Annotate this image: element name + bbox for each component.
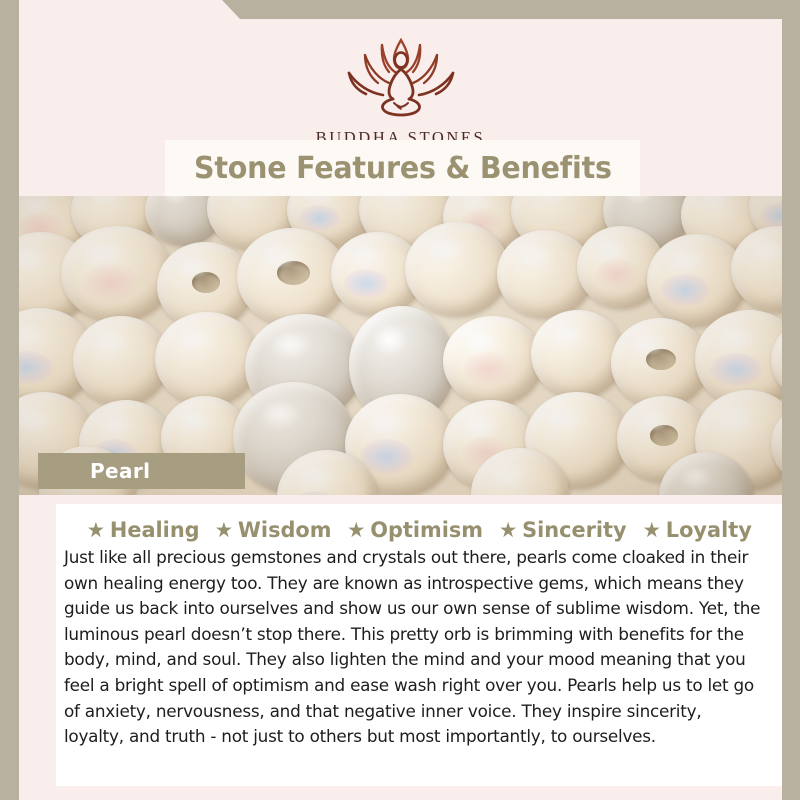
pearl-photo: [19, 196, 782, 495]
description-text: Just like all precious gemstones and cry…: [62, 546, 765, 751]
benefit-item-healing: ★ Healing: [81, 518, 204, 543]
benefit-label: Sincerity: [522, 518, 627, 543]
brand-logo: BUDDHA STONES: [19, 33, 782, 148]
benefit-label: Healing: [109, 518, 199, 543]
benefits-list: ★ Healing ★ Wisdom ★ Optimism ★ Sincerit…: [62, 518, 776, 543]
star-icon: ★: [347, 520, 365, 541]
benefit-item-wisdom: ★ Wisdom: [210, 518, 336, 543]
star-icon: ★: [499, 520, 517, 541]
benefit-label: Optimism: [370, 518, 483, 543]
page-title-plate: Stone Features & Benefits: [165, 140, 640, 196]
benefit-item-sincerity: ★ Sincerity: [494, 518, 631, 543]
page-title: Stone Features & Benefits: [194, 151, 612, 186]
benefit-item-loyalty: ★ Loyalty: [638, 518, 757, 543]
benefit-label: Loyalty: [666, 518, 752, 543]
star-icon: ★: [643, 520, 661, 541]
stone-name-tag: Pearl: [38, 453, 245, 489]
stone-name-label: Pearl: [90, 459, 150, 483]
frame-left-band: [0, 0, 19, 800]
content-section: ★ Healing ★ Wisdom ★ Optimism ★ Sincerit…: [19, 495, 782, 800]
outer-frame: BUDDHA STONES Stone Features & Benefits: [0, 0, 800, 800]
frame-right-band: [782, 0, 800, 596]
lotus-meditation-icon: [337, 33, 465, 121]
header: BUDDHA STONES Stone Features & Benefits: [19, 19, 782, 196]
star-icon: ★: [86, 520, 104, 541]
star-icon: ★: [215, 520, 233, 541]
benefit-item-optimism: ★ Optimism: [342, 518, 488, 543]
benefit-label: Wisdom: [238, 518, 332, 543]
frame-top-band: [240, 0, 800, 19]
content-card: ★ Healing ★ Wisdom ★ Optimism ★ Sincerit…: [56, 504, 782, 786]
